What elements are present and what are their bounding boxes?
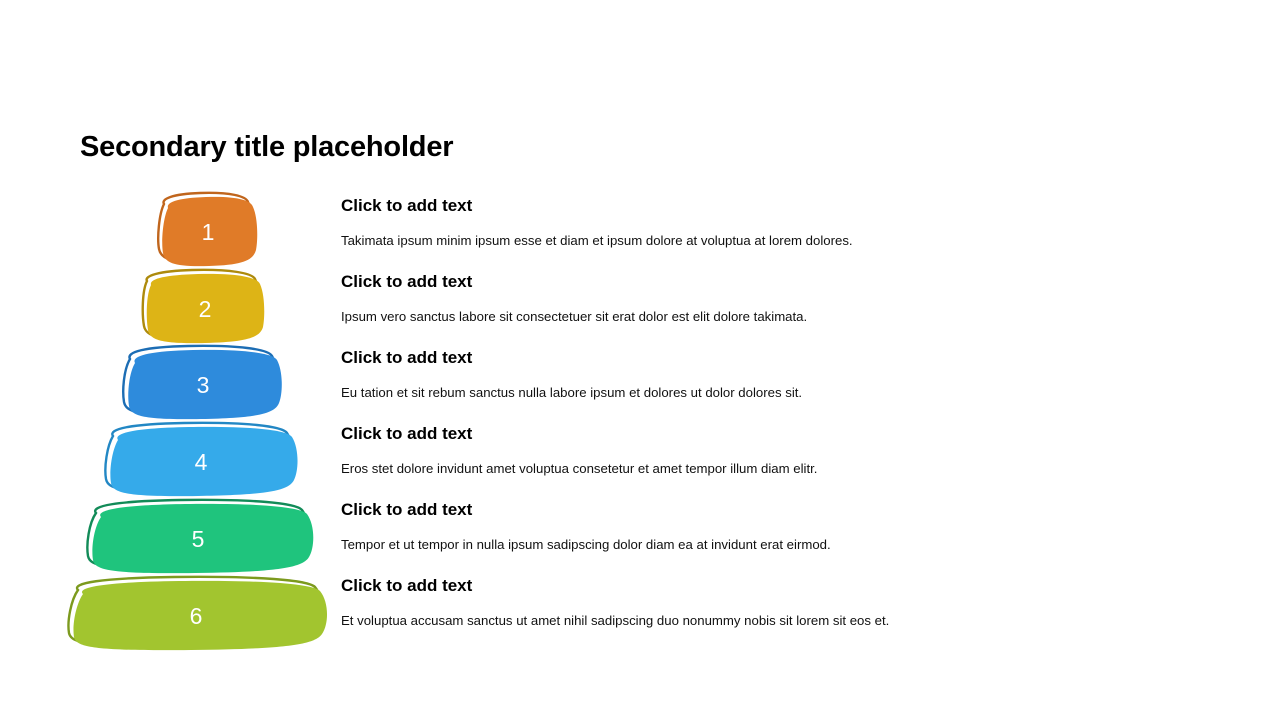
pyramid-diagram: 1 2 3 4 bbox=[60, 190, 345, 640]
band-5-number: 5 bbox=[192, 526, 205, 552]
item-heading[interactable]: Click to add text bbox=[341, 272, 472, 292]
pyramid-band-2[interactable]: 2 bbox=[143, 270, 264, 343]
item-heading[interactable]: Click to add text bbox=[341, 196, 472, 216]
band-6-number: 6 bbox=[190, 603, 203, 629]
item-body[interactable]: Tempor et ut tempor in nulla ipsum sadip… bbox=[341, 537, 831, 552]
band-3-number: 3 bbox=[197, 372, 210, 398]
band-1-number: 1 bbox=[202, 219, 215, 245]
list-item[interactable]: Click to add text Et voluptua accusam sa… bbox=[341, 570, 1241, 646]
pyramid-band-6[interactable]: 6 bbox=[68, 577, 327, 650]
item-heading[interactable]: Click to add text bbox=[341, 500, 472, 520]
item-body[interactable]: Eu tation et sit rebum sanctus nulla lab… bbox=[341, 385, 802, 400]
band-4-number: 4 bbox=[195, 449, 208, 475]
pyramid-band-1[interactable]: 1 bbox=[158, 193, 257, 266]
band-2-number: 2 bbox=[199, 296, 212, 322]
content-list: Click to add text Takimata ipsum minim i… bbox=[341, 190, 1241, 646]
pyramid-band-4[interactable]: 4 bbox=[105, 423, 297, 496]
item-body[interactable]: Ipsum vero sanctus labore sit consectetu… bbox=[341, 309, 807, 324]
list-item[interactable]: Click to add text Takimata ipsum minim i… bbox=[341, 190, 1241, 266]
list-item[interactable]: Click to add text Eu tation et sit rebum… bbox=[341, 342, 1241, 418]
list-item[interactable]: Click to add text Tempor et ut tempor in… bbox=[341, 494, 1241, 570]
list-item[interactable]: Click to add text Eros stet dolore invid… bbox=[341, 418, 1241, 494]
item-heading[interactable]: Click to add text bbox=[341, 576, 472, 596]
item-body[interactable]: Eros stet dolore invidunt amet voluptua … bbox=[341, 461, 817, 476]
slide-canvas: Secondary title placeholder 1 2 3 bbox=[0, 0, 1280, 720]
item-heading[interactable]: Click to add text bbox=[341, 348, 472, 368]
item-heading[interactable]: Click to add text bbox=[341, 424, 472, 444]
list-item[interactable]: Click to add text Ipsum vero sanctus lab… bbox=[341, 266, 1241, 342]
item-body[interactable]: Takimata ipsum minim ipsum esse et diam … bbox=[341, 233, 853, 248]
page-title: Secondary title placeholder bbox=[80, 131, 453, 164]
item-body[interactable]: Et voluptua accusam sanctus ut amet nihi… bbox=[341, 613, 889, 628]
pyramid-band-3[interactable]: 3 bbox=[123, 346, 282, 419]
pyramid-band-5[interactable]: 5 bbox=[87, 500, 313, 573]
